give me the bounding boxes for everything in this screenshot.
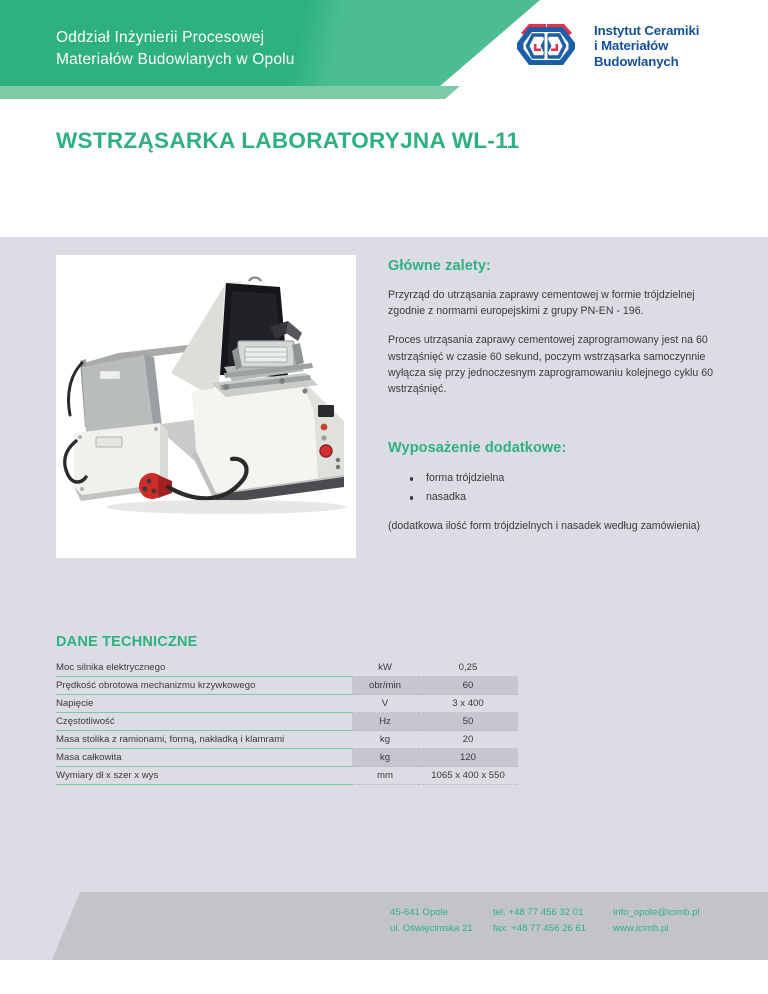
tech-label: Wymiary dł x szer x wys: [56, 767, 352, 785]
description-column: Główne zalety: Przyrząd do utrząsania za…: [388, 258, 716, 534]
footer-address: 45-641 Opole ul. Oświęcimska 21: [390, 905, 493, 936]
product-photo-illustration: [56, 255, 356, 558]
tech-value: 50: [418, 713, 518, 731]
table-row: Masa całkowita kg 120: [56, 749, 518, 767]
technical-data-heading: DANE TECHNICZNE: [56, 634, 518, 650]
tech-unit: Hz: [352, 713, 418, 731]
technical-data-table: Moc silnika elektrycznego kW 0,25 Prędko…: [56, 659, 518, 785]
tech-unit: kg: [352, 749, 418, 767]
page-title: WSTRZĄSARKA LABORATORYJNA WL-11: [56, 128, 519, 154]
organization-unit-name: Oddział Inżynierii Procesowej Materiałów…: [56, 27, 295, 71]
footer-contact: 45-641 Opole ul. Oświęcimska 21 tel. +48…: [390, 905, 733, 936]
tech-label: Moc silnika elektrycznego: [56, 659, 352, 677]
tech-value: 0,25: [418, 659, 518, 677]
institute-logo: Instytut Ceramiki i Materiałów Budowlany…: [510, 21, 699, 71]
tech-label: Prędkość obrotowa mechanizmu krzywkowego: [56, 677, 352, 695]
tech-value: 120: [418, 749, 518, 767]
accessories-heading: Wyposażenie dodatkowe:: [388, 440, 716, 456]
tech-label: Masa stolika z ramionami, formą, nakładk…: [56, 731, 352, 749]
tech-value: 1065 x 400 x 550: [418, 767, 518, 785]
tech-unit: obr/min: [352, 677, 418, 695]
icimb-interlocking-hexagons-logo-icon: [510, 21, 582, 71]
footer-web[interactable]: info_opole@icimb.pl www.icimb.pl: [613, 905, 733, 936]
table-row: Wymiary dł x szer x wys mm 1065 x 400 x …: [56, 767, 518, 785]
accessories-note: (dodatkowa ilość form trójdzielnych i na…: [388, 518, 716, 534]
list-item: nasadka: [410, 488, 716, 507]
table-row: Prędkość obrotowa mechanizmu krzywkowego…: [56, 677, 518, 695]
institute-name: Instytut Ceramiki i Materiałów Budowlany…: [594, 23, 699, 70]
page-header: Oddział Inżynierii Procesowej Materiałów…: [0, 0, 768, 100]
table-row: Masa stolika z ramionami, formą, nakładk…: [56, 731, 518, 749]
advantages-paragraph-1: Przyrząd do utrząsania zaprawy cementowe…: [388, 287, 716, 319]
advantages-heading: Główne zalety:: [388, 258, 716, 274]
table-row: Częstotliwość Hz 50: [56, 713, 518, 731]
tech-label: Napięcie: [56, 695, 352, 713]
tech-value: 20: [418, 731, 518, 749]
list-item: forma trójdzielna: [410, 469, 716, 488]
accessories-list: forma trójdzielna nasadka: [388, 469, 716, 507]
section-spacer: [388, 410, 716, 440]
tech-unit: mm: [352, 767, 418, 785]
technical-data-section: DANE TECHNICZNE Moc silnika elektryczneg…: [56, 634, 518, 785]
tech-value: 3 x 400: [418, 695, 518, 713]
tech-value: 60: [418, 677, 518, 695]
table-row: Napięcie V 3 x 400: [56, 695, 518, 713]
header-green-under-strip: [0, 86, 460, 99]
table-row: Moc silnika elektrycznego kW 0,25: [56, 659, 518, 677]
advantages-paragraph-2: Proces utrząsania zaprawy cementowej zap…: [388, 332, 716, 397]
footer-phone: tel. +48 77 456 32 01 fax: +48 77 456 26…: [493, 905, 613, 936]
tech-unit: V: [352, 695, 418, 713]
tech-unit: kg: [352, 731, 418, 749]
product-photo: [56, 255, 356, 558]
tech-label: Częstotliwość: [56, 713, 352, 731]
tech-unit: kW: [352, 659, 418, 677]
tech-label: Masa całkowita: [56, 749, 352, 767]
